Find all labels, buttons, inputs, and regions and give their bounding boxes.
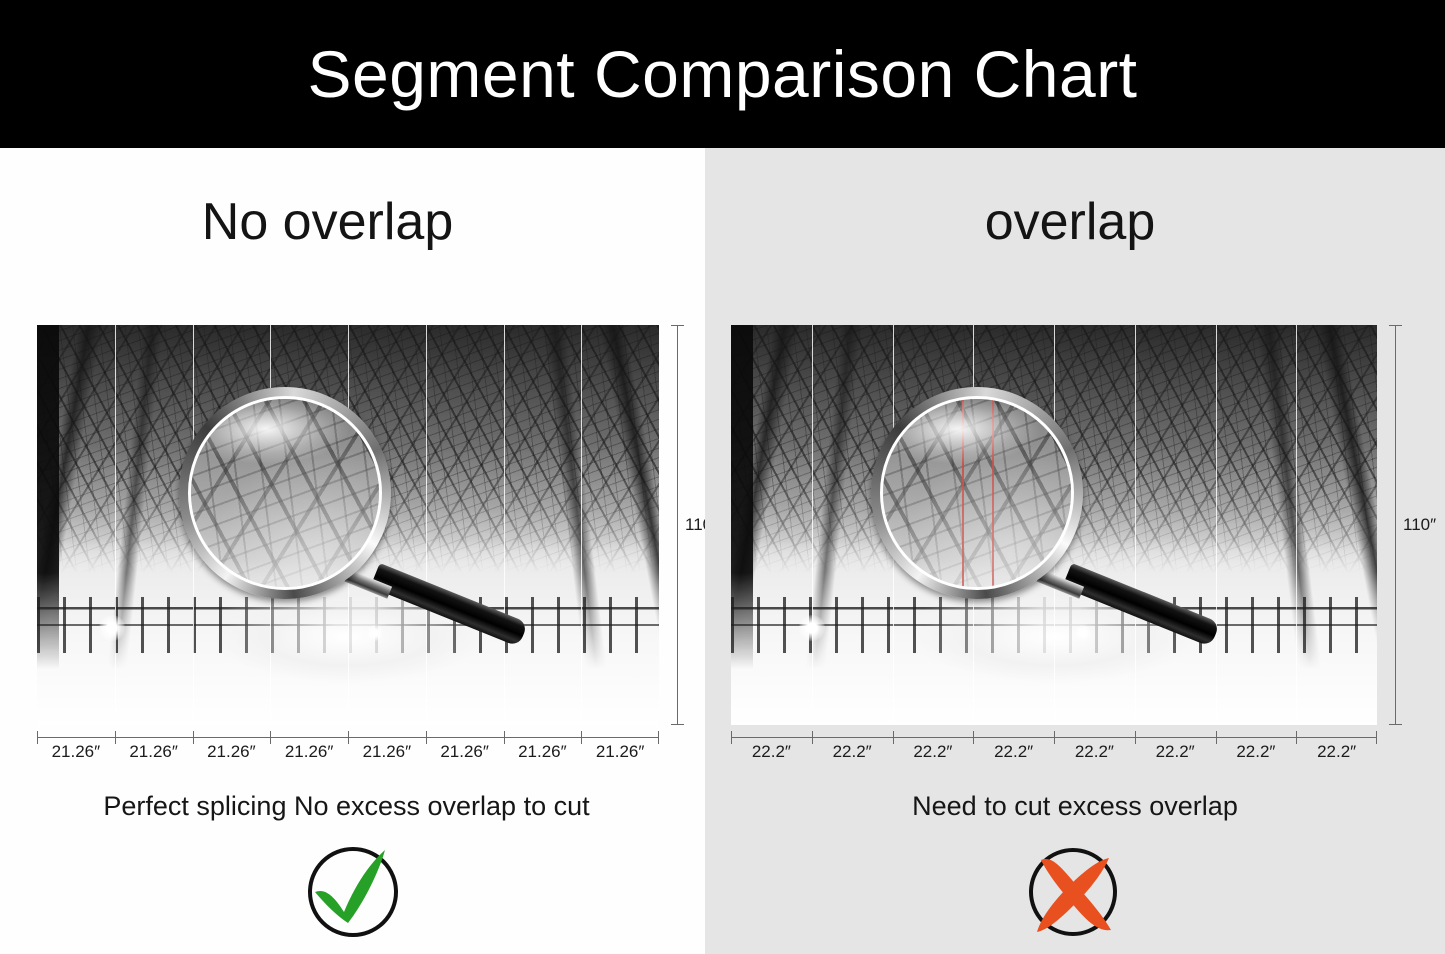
park-fence: [731, 597, 1377, 653]
cross-mark-icon: [1023, 838, 1127, 942]
panel-heading-no-overlap: No overlap: [0, 196, 705, 248]
verdict-no-overlap: [0, 838, 729, 942]
street-lamp-icon: [99, 615, 125, 641]
segment-width-label: 21.26″: [37, 742, 115, 762]
segment-width-label: 21.26″: [193, 742, 271, 762]
title-banner: Segment Comparison Chart: [0, 0, 1445, 148]
street-lamp-icon: [799, 615, 825, 641]
check-mark-icon: [301, 838, 405, 942]
panel-heading-overlap: overlap: [705, 196, 1445, 248]
segment-width-label: 22.2″: [812, 742, 893, 762]
segment-width-label: 21.26″: [115, 742, 193, 762]
street-lamp-icon: [1075, 625, 1091, 641]
figure-no-overlap: 21.26″ 21.26″ 21.26″ 21.26″ 21.26″ 21.26…: [37, 325, 659, 725]
width-dimension-overlap: 22.2″ 22.2″ 22.2″ 22.2″ 22.2″ 22.2″ 22.2…: [731, 731, 1377, 769]
segment-width-label: 22.2″: [1135, 742, 1216, 762]
segment-width-label: 21.26″: [426, 742, 504, 762]
segment-width-label: 22.2″: [1216, 742, 1297, 762]
tree-trunks: [731, 325, 1377, 725]
photo-overlap: [731, 325, 1377, 725]
segment-width-label: 22.2″: [1054, 742, 1135, 762]
segment-width-label: 22.2″: [973, 742, 1054, 762]
park-fence: [37, 597, 659, 653]
segment-width-label: 22.2″: [731, 742, 812, 762]
segment-width-label: 21.26″: [581, 742, 659, 762]
height-label: 110″: [1403, 515, 1436, 535]
tree-trunks: [37, 325, 659, 725]
page-title: Segment Comparison Chart: [307, 41, 1137, 107]
figure-overlap: 22.2″ 22.2″ 22.2″ 22.2″ 22.2″ 22.2″ 22.2…: [731, 325, 1377, 725]
caption-no-overlap: Perfect splicing No excess overlap to cu…: [0, 793, 705, 820]
caption-overlap: Need to cut excess overlap: [705, 793, 1445, 820]
segment-width-label: 22.2″: [1296, 742, 1377, 762]
photo-no-overlap: [37, 325, 659, 725]
street-lamp-icon: [367, 625, 383, 641]
segment-width-label: 21.26″: [504, 742, 582, 762]
panel-overlap: overlap: [705, 148, 1445, 954]
segment-width-label: 22.2″: [893, 742, 974, 762]
width-dimension-no-overlap: 21.26″ 21.26″ 21.26″ 21.26″ 21.26″ 21.26…: [37, 731, 659, 769]
segment-width-label: 21.26″: [270, 742, 348, 762]
panel-no-overlap: No overlap: [0, 148, 705, 954]
segment-comparison-chart: Segment Comparison Chart No overlap: [0, 0, 1445, 954]
segment-width-label: 21.26″: [348, 742, 426, 762]
comparison-panels: No overlap: [0, 148, 1445, 954]
verdict-overlap: [705, 838, 1445, 942]
height-dimension-overlap: 110″: [1389, 325, 1433, 725]
